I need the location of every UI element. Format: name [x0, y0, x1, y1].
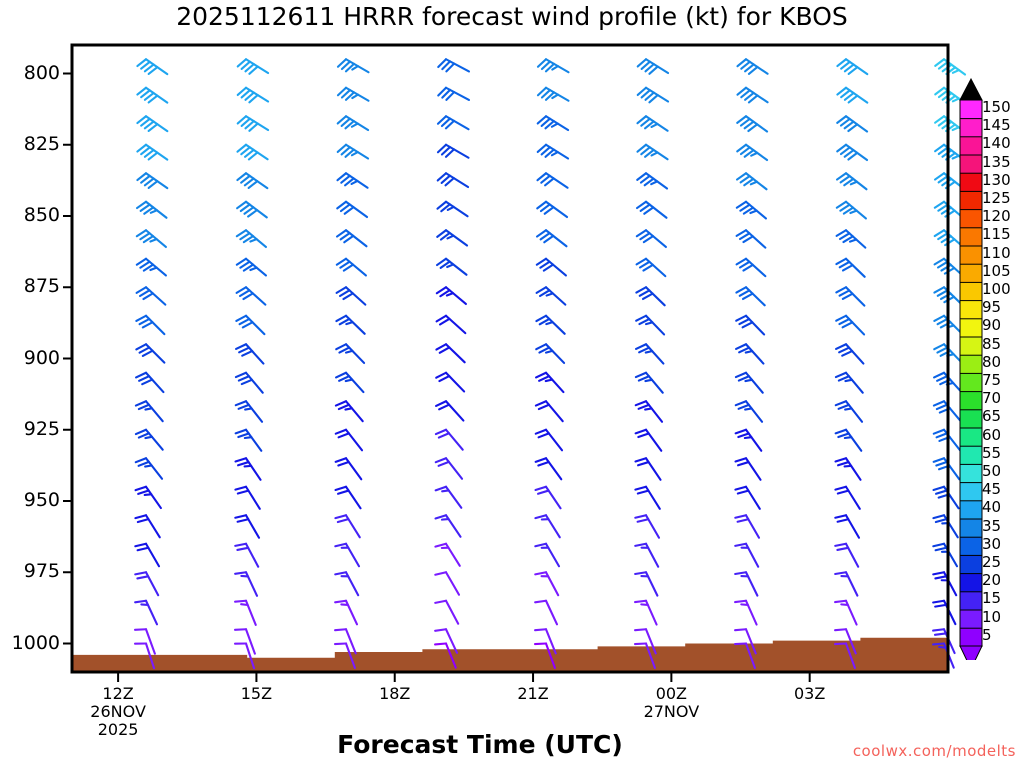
y-axis-tick-label: 900 [0, 347, 60, 369]
colorbar-tick-label: 10 [982, 608, 1001, 626]
colorbar-tick-label: 50 [982, 462, 1001, 480]
colorbar-tick-label: 140 [982, 134, 1011, 152]
x-axis-year-label: 2025 [73, 720, 163, 739]
colorbar-tick-label: 55 [982, 444, 1001, 462]
colorbar-tick-label: 80 [982, 353, 1001, 371]
colorbar-tick-label: 65 [982, 407, 1001, 425]
page-title: 2025112611 HRRR forecast wind profile (k… [0, 2, 1024, 31]
y-axis-tick-label: 800 [0, 62, 60, 84]
colorbar-tick-label: 60 [982, 426, 1001, 444]
y-axis-tick-label: 975 [0, 560, 60, 582]
colorbar-tick-label: 135 [982, 153, 1011, 171]
colorbar-tick-label: 45 [982, 480, 1001, 498]
colorbar-tick-label: 110 [982, 244, 1011, 262]
colorbar-tick-label: 115 [982, 225, 1011, 243]
x-axis-tick-label: 18Z [350, 684, 440, 703]
colorbar-tick-label: 125 [982, 189, 1011, 207]
colorbar-tick-label: 100 [982, 280, 1011, 298]
colorbar-tick-label: 95 [982, 298, 1001, 316]
y-axis-tick-label: 925 [0, 418, 60, 440]
colorbar-tick-label: 130 [982, 171, 1011, 189]
x-axis-tick-label: 15Z [211, 684, 301, 703]
colorbar-tick-label: 35 [982, 517, 1001, 535]
x-axis-date-label: 26NOV [73, 702, 163, 721]
colorbar-tick-label: 90 [982, 316, 1001, 334]
x-axis-date-label: 27NOV [626, 702, 716, 721]
y-axis-tick-label: 1000 [0, 632, 60, 654]
colorbar-tick-label: 20 [982, 571, 1001, 589]
x-axis-tick-label: 12Z [73, 684, 163, 703]
colorbar-tick-label: 75 [982, 371, 1001, 389]
x-axis-tick-label: 00Z [626, 684, 716, 703]
y-axis-tick-label: 825 [0, 133, 60, 155]
colorbar-tick-label: 30 [982, 535, 1001, 553]
colorbar-tick-label: 5 [982, 626, 992, 644]
y-axis-tick-label: 950 [0, 489, 60, 511]
credit-link[interactable]: coolwx.com/modelts [853, 742, 1016, 760]
colorbar-tick-label: 40 [982, 498, 1001, 516]
x-axis-title: Forecast Time (UTC) [180, 730, 780, 759]
colorbar-tick-label: 85 [982, 335, 1001, 353]
colorbar-tick-label: 150 [982, 98, 1011, 116]
colorbar-tick-label: 105 [982, 262, 1011, 280]
x-axis-tick-label: 21Z [488, 684, 578, 703]
colorbar-tick-label: 15 [982, 589, 1001, 607]
colorbar-tick-label: 70 [982, 389, 1001, 407]
y-axis-tick-label: 875 [0, 275, 60, 297]
x-axis-tick-label: 03Z [765, 684, 855, 703]
colorbar-tick-label: 120 [982, 207, 1011, 225]
y-axis-tick-label: 850 [0, 204, 60, 226]
wind-profile-plot [0, 0, 1024, 768]
colorbar-tick-label: 145 [982, 116, 1011, 134]
colorbar-tick-label: 25 [982, 553, 1001, 571]
chart-root: 2025112611 HRRR forecast wind profile (k… [0, 0, 1024, 768]
colorbar: 5101520253035404550556065707580859095100… [958, 78, 1024, 660]
